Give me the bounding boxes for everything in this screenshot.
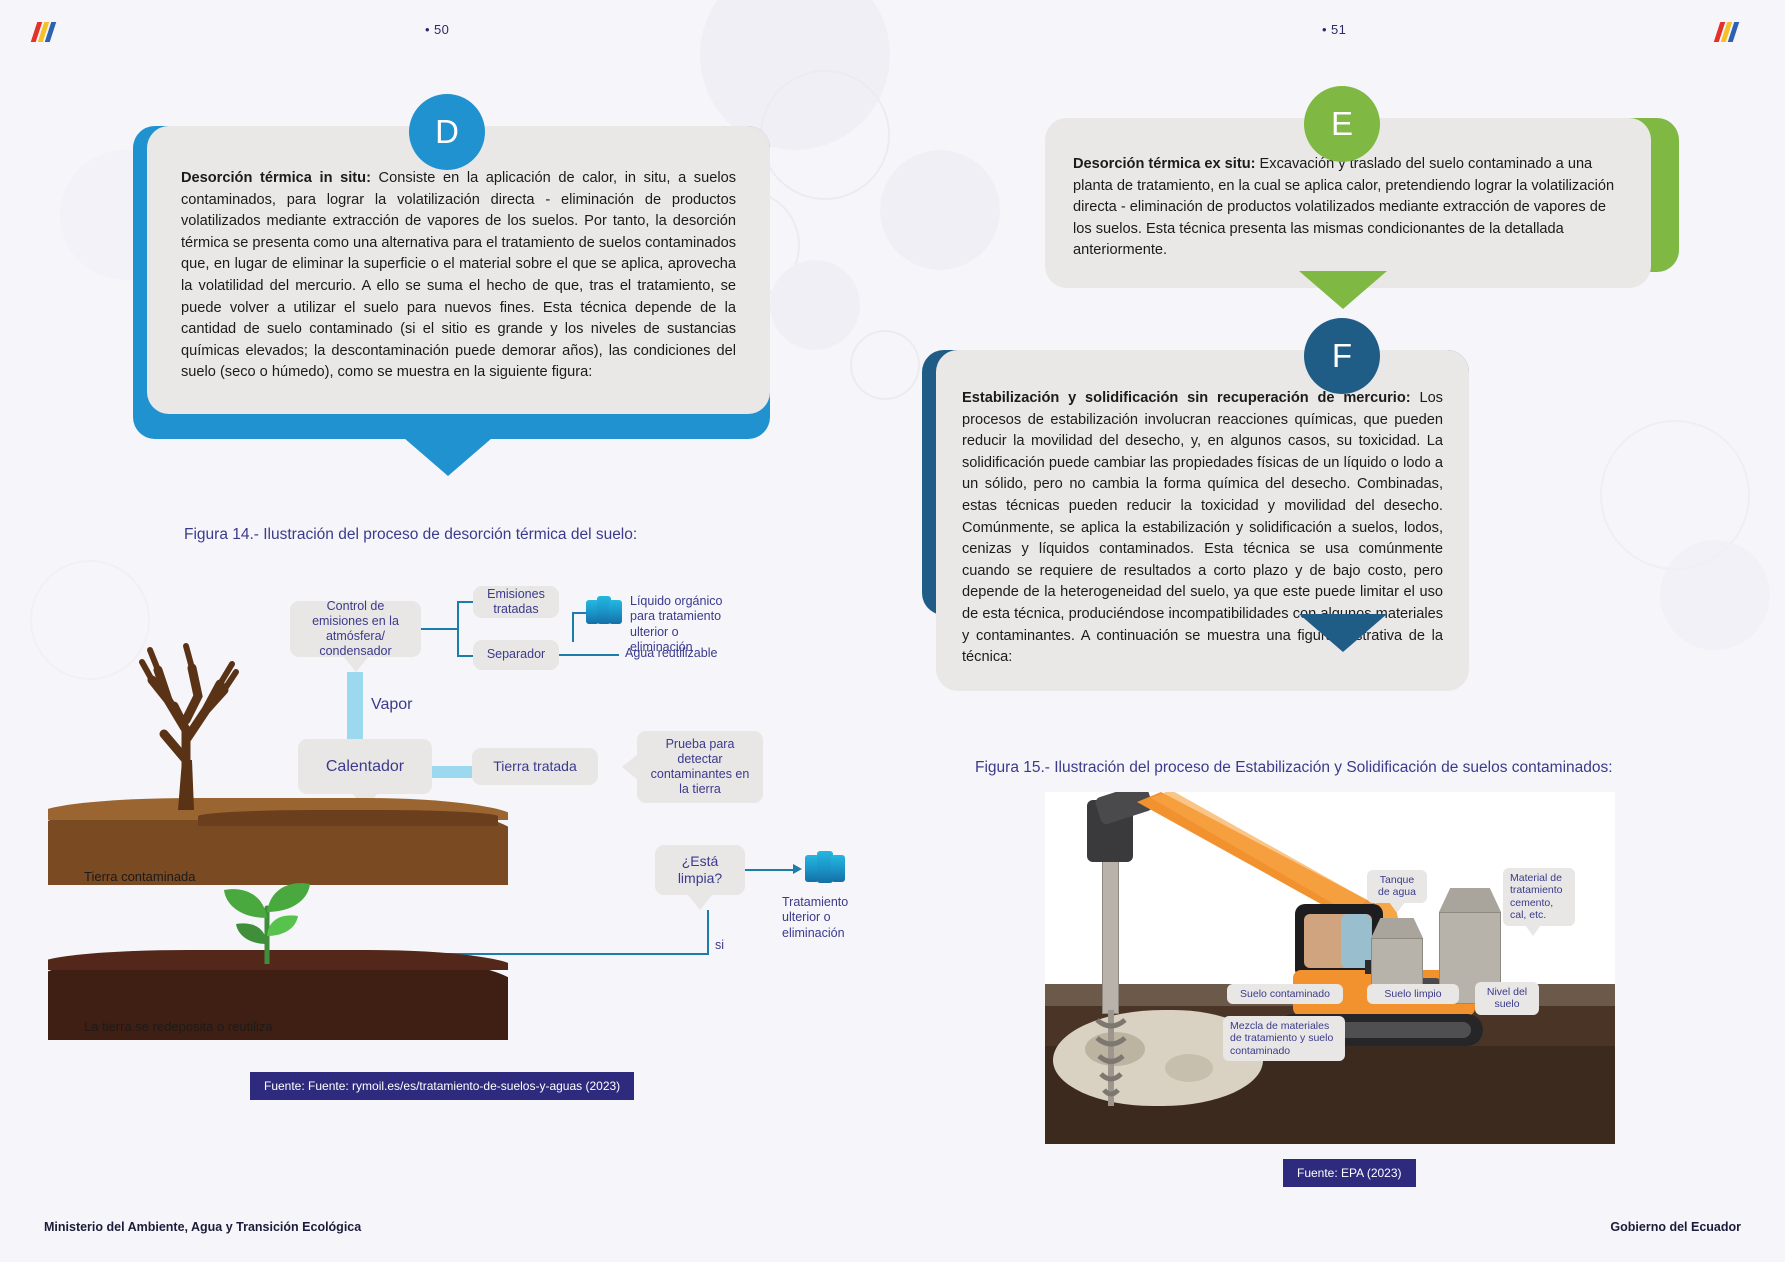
panel-d: Desorción térmica in situ: Consiste en l… [133,126,770,439]
panel-e-arrow-icon [1299,271,1387,309]
label-agua-reutilizable: Agua reutilizable [625,646,717,661]
footer-government: Gobierno del Ecuador [1610,1220,1741,1234]
label-tierra-contaminada: Tierra contaminada [84,869,196,884]
panel-d-body: Desorción térmica in situ: Consiste en l… [147,126,770,414]
panel-f: Estabilización y solidificación sin recu… [922,350,1469,615]
bg-decoration [760,70,890,200]
logo-left [34,22,68,42]
connector-limpia-tratamiento [745,869,797,871]
bg-decoration [1660,540,1770,650]
flow-box-prueba: Prueba para detectar contaminantes en la… [637,731,763,803]
material-tank-roof [1439,888,1501,912]
panel-f-arrow-icon [1299,614,1387,652]
panel-e-lead: Desorción térmica ex situ: [1073,156,1256,172]
tag-tanque-agua: Tanque de agua [1367,870,1427,903]
tag-suelo-limpio: Suelo limpio [1367,984,1459,1004]
bg-decoration [850,330,920,400]
pipe-vapor [347,672,363,739]
page-spread: • 50 • 51 D Desorción térmica in situ: C… [0,0,1785,1262]
label-redeposita: La tierra se redeposita o reutiliza [84,1019,273,1034]
bg-decoration [770,260,860,350]
tag-material-tratamiento: Material de tratamiento cemento, cal, et… [1503,868,1575,926]
figure-15-caption: Figura 15.- Ilustración del proceso de E… [975,759,1613,777]
arrow-head-icon [793,864,802,874]
tag-suelo-contaminado: Suelo contaminado [1227,984,1343,1004]
connector-barrel-top [572,612,586,614]
figure-14-source: Fuente: Fuente: rymoil.es/es/tratamiento… [250,1072,634,1100]
folio-left: • 50 [425,22,449,37]
connector-si-vertical [707,910,709,955]
connector-separador-right [559,654,619,656]
label-tratamiento-ulterior: Tratamiento ulterior o eliminación [782,895,874,941]
figure-15-source: Fuente: EPA (2023) [1283,1159,1416,1187]
label-si: si [715,938,724,953]
pipe-calentador-tierra [432,766,472,778]
connector-branch-top [457,601,474,603]
tag-nivel-suelo: Nivel del suelo [1475,982,1539,1015]
logo-right [1717,22,1751,42]
panel-e-text: Desorción térmica ex situ: Excavación y … [1073,154,1623,262]
label-vapor: Vapor [371,695,413,715]
contaminated-speckle [1165,1054,1213,1082]
figure-14-caption: Figura 14.- Ilustración del proceso de d… [184,526,637,544]
soil-shade [198,810,498,826]
panel-f-body: Estabilización y solidificación sin recu… [936,350,1469,691]
flow-box-esta-limpia: ¿Está limpia? [655,845,745,895]
connector-branch-bottom [457,655,474,657]
panel-badge-d: D [409,94,485,170]
panel-d-text: Desorción térmica in situ: Consiste en l… [181,168,736,384]
tag-mezcla-materiales: Mezcla de materiales de tratamiento y su… [1223,1016,1345,1061]
connector-branch-vertical [457,601,459,657]
flow-box-separador: Separador [473,640,559,670]
footer-ministry: Ministerio del Ambiente, Agua y Transici… [44,1220,361,1234]
folio-right: • 51 [1322,22,1346,37]
panel-badge-e: E [1304,86,1380,162]
figure-15-illustration: Tanque de agua Material de tratamiento c… [1045,792,1615,1144]
flow-box-control: Control de emisiones en la atmósfera/ co… [290,601,421,657]
dead-tree-icon [128,610,258,810]
connector-barrel-vertical [572,612,574,642]
sprout-icon [212,872,322,964]
panel-d-arrow-icon [404,438,492,476]
panel-badge-f: F [1304,318,1380,394]
flow-box-emisiones: Emisiones tratadas [473,586,559,618]
connector-control-branch [421,628,459,630]
barrel-cluster-icon [586,596,624,626]
bg-decoration [880,150,1000,270]
barrel-cluster-icon-2 [805,851,847,885]
panel-d-paragraph: Consiste en la aplicación de calor, in s… [181,170,736,380]
panel-d-lead: Desorción térmica in situ: [181,170,371,186]
